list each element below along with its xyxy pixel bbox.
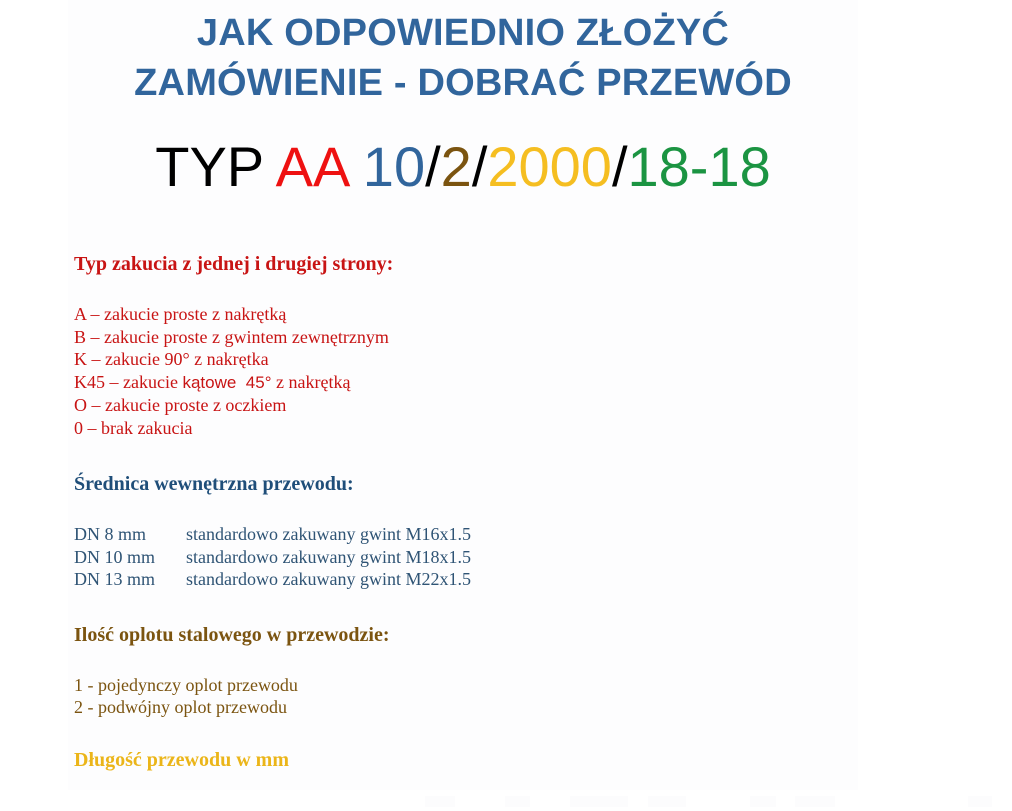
product-code-line: TYP AA 10/2/2000/18-18	[68, 134, 858, 200]
page-title-line-1: JAK ODPOWIEDNIO ZŁOŻYĆ	[68, 8, 858, 58]
dn-label: DN 10 mm	[74, 546, 186, 569]
code-segment-thread: 18-18	[628, 135, 771, 198]
code-separator-1: /	[425, 135, 441, 198]
code-segment-length: 2000	[487, 135, 612, 198]
list-item: 1 - pojedynczy oplot przewodu	[74, 674, 774, 697]
section-diameter-list: DN 8 mmstandardowo zakuwany gwint M16x1.…	[74, 523, 774, 591]
section-braid-count: Ilość oplotu stalowego w przewodzie: 1 -…	[74, 623, 774, 719]
dn-value: standardowo zakuwany gwint M22x1.5	[186, 569, 471, 589]
page-title-line-2: ZAMÓWIENIE - DOBRAĆ PRZEWÓD	[68, 58, 858, 108]
page-title: JAK ODPOWIEDNIO ZŁOŻYĆ ZAMÓWIENIE - DOBR…	[68, 8, 858, 108]
k45-suffix: z nakrętką	[272, 372, 351, 392]
bottom-toolbar-strip	[0, 790, 1012, 811]
code-segment-braid: 2	[441, 135, 472, 198]
toolbar-chip	[570, 796, 628, 807]
toolbar-chip	[425, 796, 455, 807]
section-diameter-heading: Średnica wewnętrzna przewodu:	[74, 472, 774, 496]
toolbar-chip	[505, 796, 530, 807]
code-segment-diameter: 10	[363, 135, 425, 198]
table-row: DN 8 mmstandardowo zakuwany gwint M16x1.…	[74, 523, 774, 546]
spacer	[74, 496, 774, 523]
spacer	[74, 591, 774, 623]
table-row: DN 13 mmstandardowo zakuwany gwint M22x1…	[74, 568, 774, 591]
dn-value: standardowo zakuwany gwint M16x1.5	[186, 524, 471, 544]
section-inner-diameter: Średnica wewnętrzna przewodu: DN 8 mmsta…	[74, 472, 774, 591]
code-separator-3: /	[612, 135, 628, 198]
list-item: B – zakucie proste z gwintem zewnętrznym	[74, 326, 774, 349]
list-item: A – zakucie proste z nakrętką	[74, 303, 774, 326]
k45-angle-text: kątowe 45°	[182, 373, 271, 392]
list-item: 2 - podwójny oplot przewodu	[74, 696, 774, 719]
section-hose-length: Długość przewodu w mm	[74, 748, 774, 772]
spacer	[74, 719, 774, 748]
toolbar-chip	[648, 796, 686, 807]
section-braid-list: 1 - pojedynczy oplot przewodu 2 - podwój…	[74, 674, 774, 719]
code-separator-2: /	[472, 135, 488, 198]
legend-column: Typ zakucia z jednej i drugiej strony: A…	[74, 252, 774, 811]
list-item-k45: K45 – zakucie kątowe 45° z nakrętką	[74, 371, 774, 395]
list-item: K – zakucie 90° z nakrętka	[74, 348, 774, 371]
section-fitting-list: A – zakucie proste z nakrętką B – zakuci…	[74, 303, 774, 439]
toolbar-chip	[795, 796, 835, 807]
code-prefix-typ: TYP	[155, 135, 275, 198]
spacer	[74, 276, 774, 303]
dn-label: DN 13 mm	[74, 568, 186, 591]
list-item: O – zakucie proste z oczkiem	[74, 394, 774, 417]
section-length-heading: Długość przewodu w mm	[74, 748, 774, 772]
dn-value: standardowo zakuwany gwint M18x1.5	[186, 547, 471, 567]
k45-prefix: K45 – zakucie	[74, 372, 182, 392]
code-segment-fitting: AA	[276, 135, 348, 198]
section-braid-heading: Ilość oplotu stalowego w przewodzie:	[74, 623, 774, 647]
table-row: DN 10 mmstandardowo zakuwany gwint M18x1…	[74, 546, 774, 569]
spacer	[74, 439, 774, 472]
spacer	[74, 647, 774, 674]
list-item: 0 – brak zakucia	[74, 417, 774, 440]
code-space	[347, 135, 363, 198]
section-fitting-heading: Typ zakucia z jednej i drugiej strony:	[74, 252, 774, 276]
toolbar-chip	[750, 796, 776, 807]
toolbar-chip	[968, 796, 992, 807]
section-fitting-type: Typ zakucia z jednej i drugiej strony: A…	[74, 252, 774, 439]
slide-canvas: JAK ODPOWIEDNIO ZŁOŻYĆ ZAMÓWIENIE - DOBR…	[0, 0, 1012, 811]
dn-label: DN 8 mm	[74, 523, 186, 546]
